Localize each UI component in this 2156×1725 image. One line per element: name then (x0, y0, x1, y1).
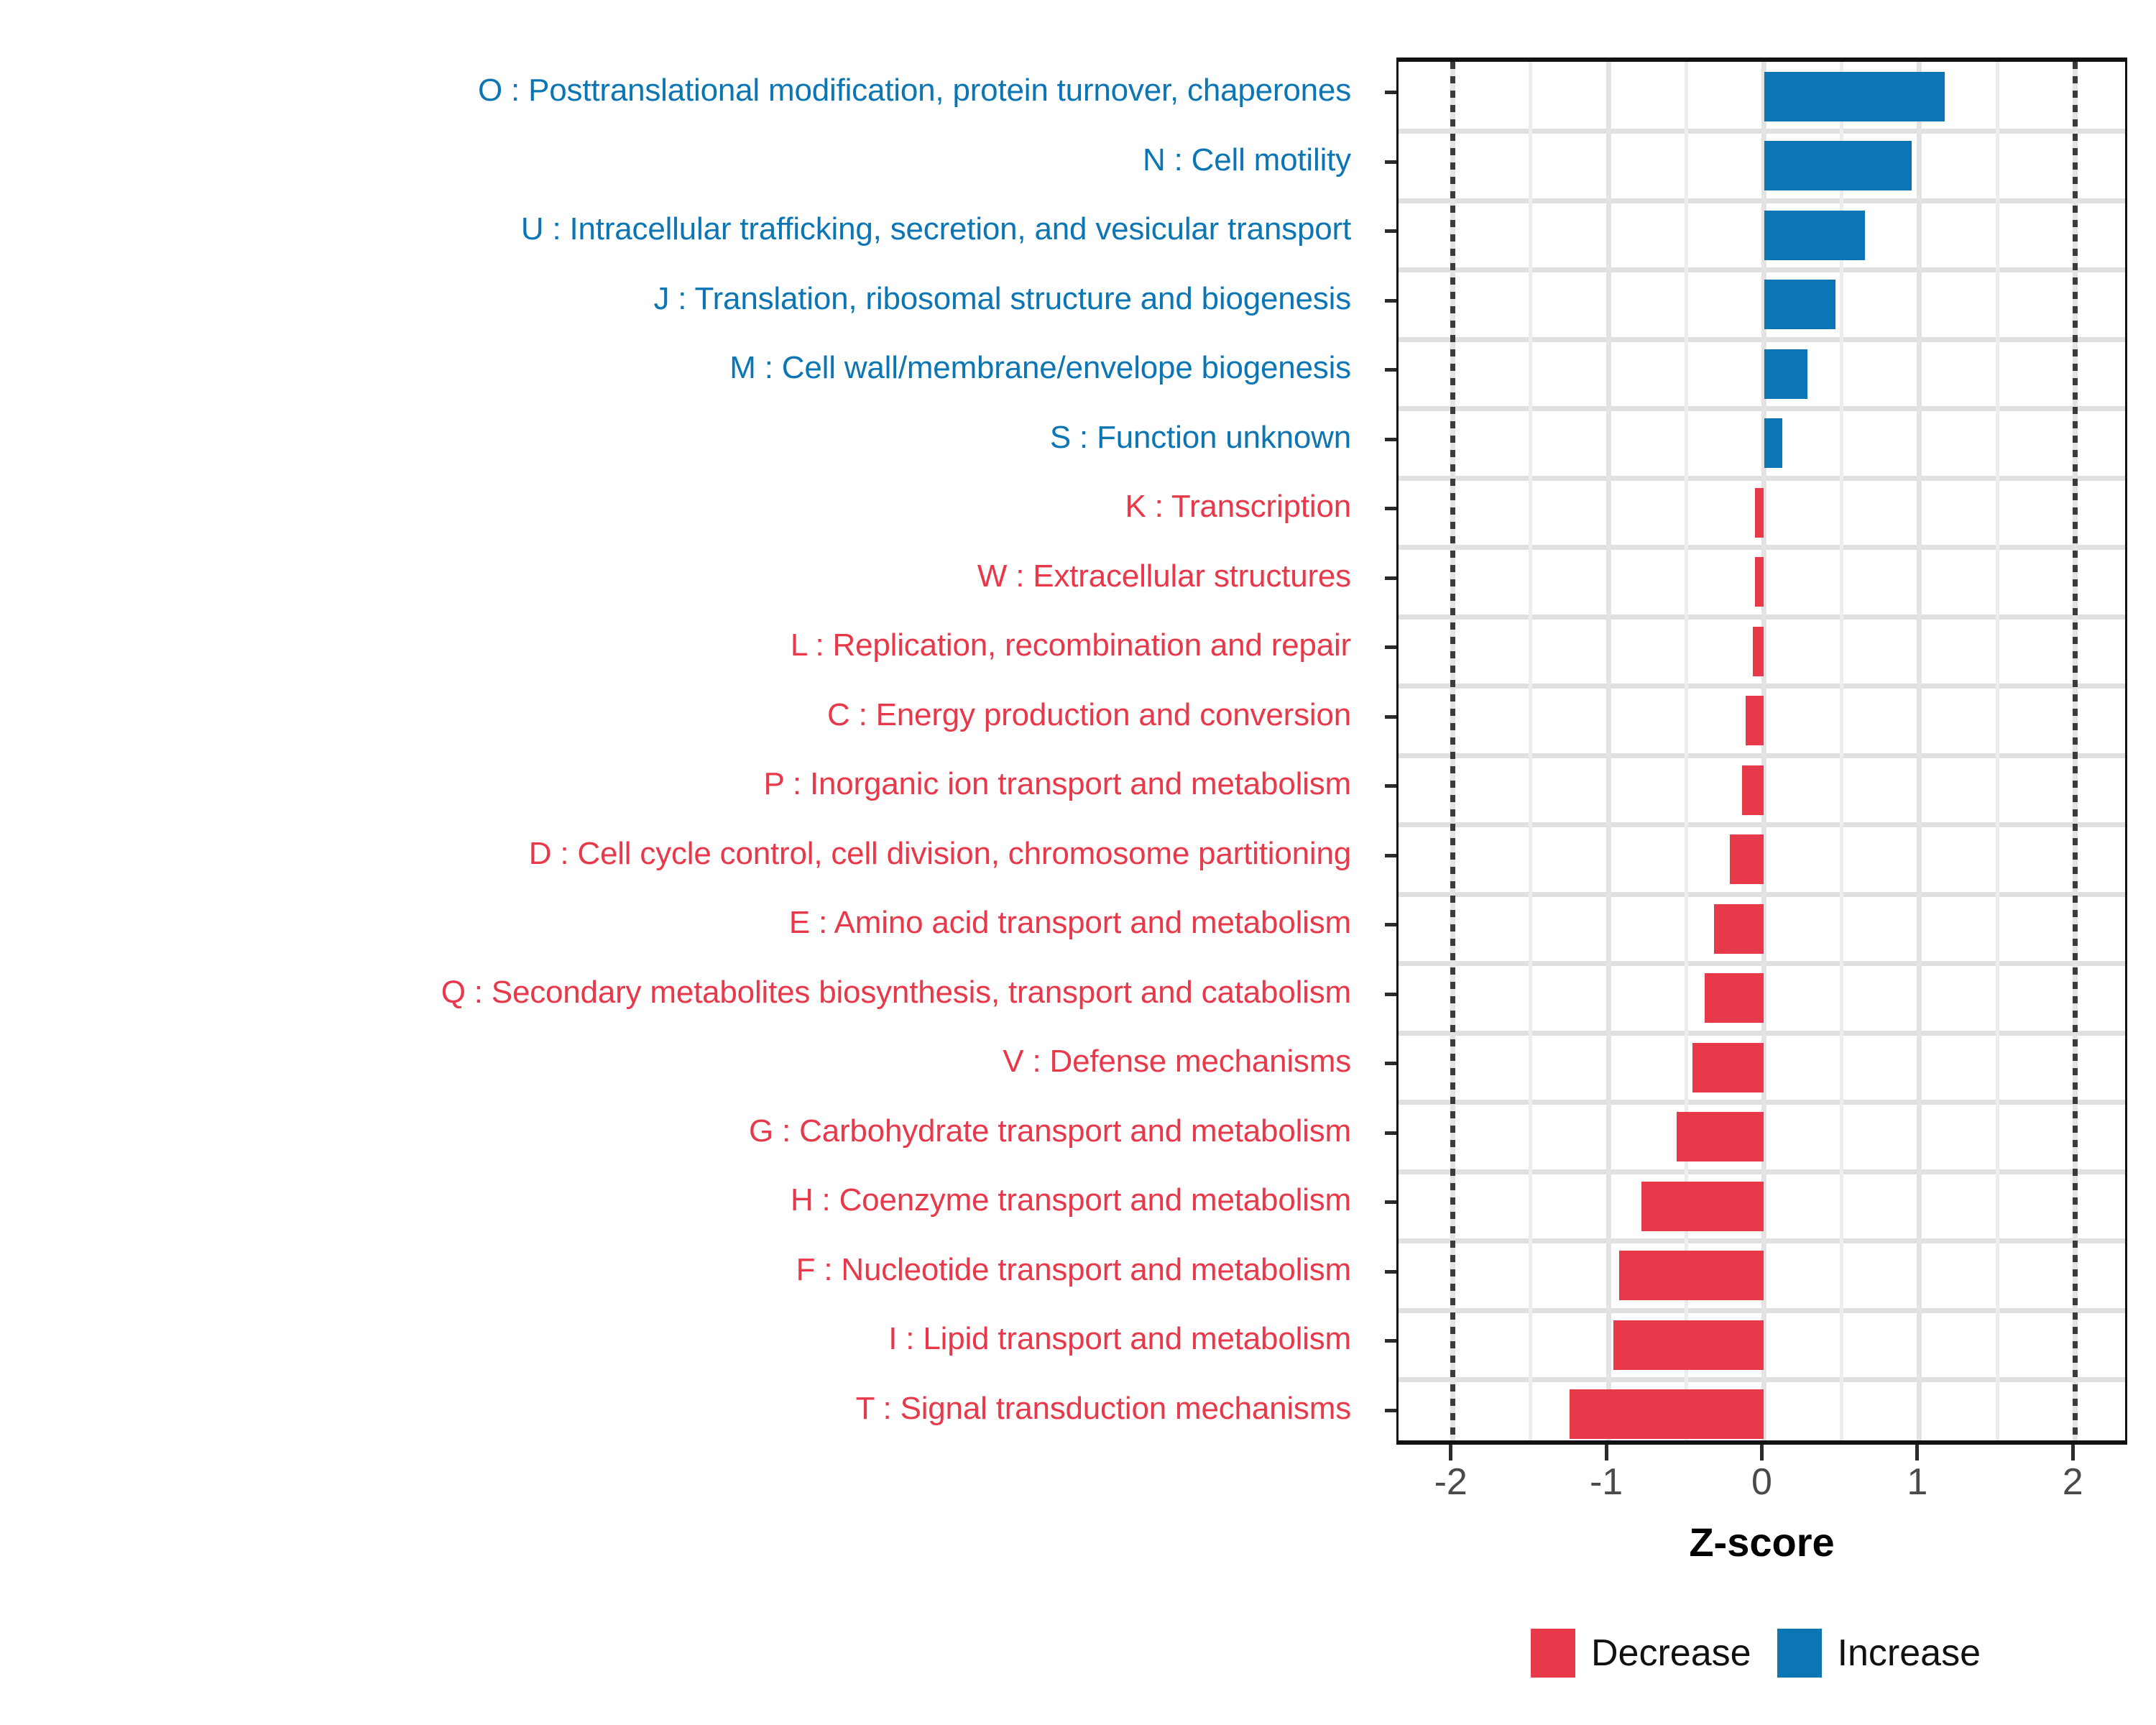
bar[interactable] (1641, 1182, 1764, 1231)
y-axis-tick (1385, 1131, 1396, 1135)
x-axis-tick (1760, 1445, 1764, 1460)
legend-swatch-increase (1777, 1629, 1822, 1678)
x-axis-tick-label: -2 (1434, 1463, 1468, 1501)
x-axis-tick-label: -1 (1590, 1463, 1623, 1501)
gridline-vertical-minor (1529, 62, 1532, 1440)
y-axis-tick (1385, 993, 1396, 996)
category-label: V : Defense mechanisms (0, 1046, 1351, 1077)
category-label: S : Function unknown (0, 422, 1351, 454)
y-axis-tick (1385, 784, 1396, 788)
category-label: U : Intracellular trafficking, secretion… (0, 213, 1351, 245)
y-axis-tick (1385, 1062, 1396, 1065)
bar[interactable] (1570, 1389, 1764, 1439)
bar[interactable] (1692, 1043, 1764, 1092)
gridline-vertical-major (1606, 62, 1611, 1440)
bar[interactable] (1714, 904, 1764, 954)
plot-area (1399, 62, 2125, 1440)
y-axis-tick (1385, 576, 1396, 580)
category-label: D : Cell cycle control, cell division, c… (0, 838, 1351, 870)
x-axis-tick (1915, 1445, 1919, 1460)
legend-label-increase: Increase (1838, 1634, 1981, 1672)
category-label: E : Amino acid transport and metabolism (0, 907, 1351, 939)
y-axis-tick (1385, 91, 1396, 94)
bar[interactable] (1764, 418, 1783, 468)
gridline-vertical-minor (1840, 62, 1843, 1440)
category-label: G : Carbohydrate transport and metabolis… (0, 1115, 1351, 1147)
bar[interactable] (1753, 627, 1764, 676)
bar[interactable] (1677, 1112, 1764, 1161)
legend: Decrease Increase (1531, 1628, 1981, 1678)
category-label: J : Translation, ribosomal structure and… (0, 283, 1351, 315)
bar[interactable] (1755, 488, 1764, 538)
reference-line (1450, 62, 1455, 1440)
x-axis-tick (2071, 1445, 2075, 1460)
category-label: I : Lipid transport and metabolism (0, 1323, 1351, 1355)
bar[interactable] (1742, 765, 1764, 815)
y-axis-tick (1385, 923, 1396, 926)
y-axis-tick (1385, 299, 1396, 303)
x-axis-tick (1605, 1445, 1608, 1460)
bar[interactable] (1764, 349, 1808, 399)
bar[interactable] (1764, 72, 1945, 121)
y-axis-tick (1385, 507, 1396, 510)
y-axis-tick (1385, 645, 1396, 649)
category-label: L : Replication, recombination and repai… (0, 630, 1351, 661)
category-label: M : Cell wall/membrane/envelope biogenes… (0, 352, 1351, 384)
bar[interactable] (1619, 1251, 1764, 1300)
reference-line (2073, 62, 2078, 1440)
legend-item-decrease[interactable]: Decrease (1531, 1629, 1751, 1678)
category-label: N : Cell motility (0, 144, 1351, 176)
y-axis-tick (1385, 368, 1396, 372)
gridline-vertical-minor (1996, 62, 1999, 1440)
x-axis-tick-label: 1 (1907, 1463, 1927, 1501)
y-axis-tick (1385, 1339, 1396, 1343)
y-axis-tick (1385, 854, 1396, 857)
x-axis-tick-label: 0 (1751, 1463, 1772, 1501)
bar[interactable] (1705, 973, 1764, 1023)
category-label: F : Nucleotide transport and metabolism (0, 1254, 1351, 1286)
category-label: T : Signal transduction mechanisms (0, 1393, 1351, 1425)
y-axis-tick (1385, 229, 1396, 233)
category-label: Q : Secondary metabolites biosynthesis, … (0, 977, 1351, 1008)
plot-panel (1396, 57, 2127, 1445)
gridline-vertical-major (1761, 62, 1766, 1440)
bar[interactable] (1764, 211, 1866, 260)
x-axis-tick-label: 2 (2063, 1463, 2083, 1501)
category-label: H : Coenzyme transport and metabolism (0, 1184, 1351, 1216)
category-label: O : Posttranslational modification, prot… (0, 75, 1351, 106)
category-label: C : Energy production and conversion (0, 699, 1351, 731)
category-label-column: O : Posttranslational modification, prot… (0, 57, 1369, 1445)
y-axis-tick (1385, 160, 1396, 164)
legend-item-increase[interactable]: Increase (1777, 1629, 1981, 1678)
x-axis-tick-labels: -2-1012 (1396, 1463, 2127, 1514)
bar[interactable] (1764, 280, 1836, 329)
y-axis-tick (1385, 438, 1396, 441)
bar[interactable] (1755, 557, 1764, 607)
category-label: P : Inorganic ion transport and metaboli… (0, 768, 1351, 800)
category-label: K : Transcription (0, 491, 1351, 523)
bar[interactable] (1764, 141, 1912, 190)
y-axis-tick (1385, 1270, 1396, 1274)
x-axis-title: Z-score (1396, 1522, 2127, 1563)
legend-swatch-decrease (1531, 1629, 1575, 1678)
gridline-vertical-major (1917, 62, 1922, 1440)
y-axis-tick (1385, 1409, 1396, 1412)
bar[interactable] (1613, 1320, 1764, 1370)
cog-zscore-chart: O : Posttranslational modification, prot… (0, 0, 2156, 1725)
category-label: W : Extracellular structures (0, 561, 1351, 592)
x-axis-tick (1449, 1445, 1452, 1460)
y-axis-tick (1385, 1200, 1396, 1204)
bar[interactable] (1746, 696, 1764, 745)
legend-label-decrease: Decrease (1591, 1634, 1751, 1672)
gridline-vertical-minor (1685, 62, 1688, 1440)
bar[interactable] (1730, 834, 1764, 884)
y-axis-tick (1385, 715, 1396, 719)
